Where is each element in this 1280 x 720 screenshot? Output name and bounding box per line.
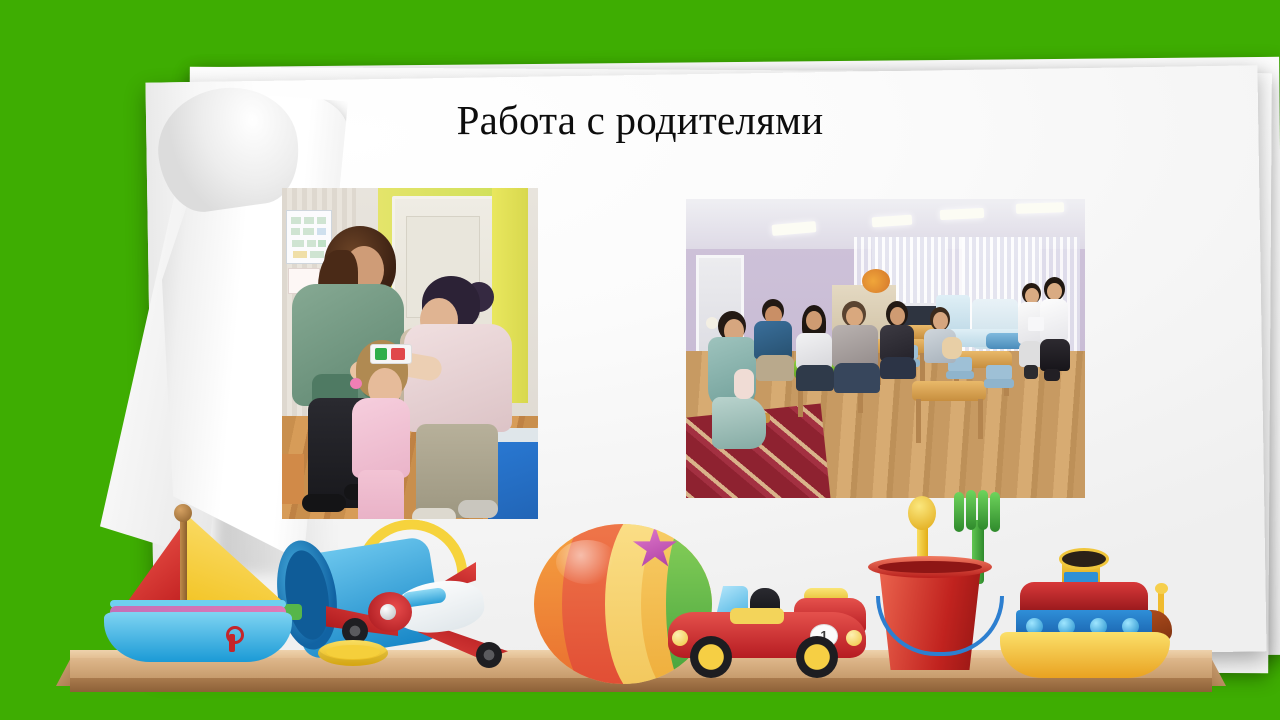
photo-right-parent	[752, 299, 796, 379]
sailboat-yellow-sail	[186, 514, 290, 612]
photo-right-chair	[984, 379, 1014, 388]
sand-bucket-rim	[868, 556, 992, 578]
photo-right-presenter	[1038, 277, 1072, 383]
race-car-taillight	[846, 630, 862, 646]
photo-right-parent-with-baby	[922, 307, 964, 369]
photo-right-chair	[946, 371, 974, 379]
photo-right-parent	[794, 305, 836, 389]
photo-right-flower-vase	[862, 269, 890, 293]
airplane-nose	[368, 592, 412, 632]
airplane-wheel	[476, 642, 502, 668]
steamboat-hull	[1000, 632, 1170, 678]
photo-parent-child-teacher	[282, 188, 538, 519]
race-car-headlight	[672, 630, 688, 646]
sailboat-red-sail	[128, 520, 186, 608]
toy-sailboat	[104, 508, 304, 664]
photo-right-parent	[832, 301, 882, 391]
photo-right-chair	[986, 365, 1012, 380]
photo-left-teacher	[402, 276, 532, 519]
toy-steamboat	[1000, 560, 1185, 685]
race-car-cockpit	[730, 608, 784, 624]
race-car-wheel	[690, 636, 732, 678]
photo-left-handheld-card	[370, 344, 412, 364]
sailboat-hull	[104, 612, 292, 662]
photo-right-ceiling-lamp	[1016, 202, 1064, 214]
sailboat-mast-knob	[174, 504, 192, 522]
photo-right-table	[912, 381, 986, 401]
photo-parent-meeting	[686, 199, 1085, 498]
toy-yellow-dish	[318, 640, 388, 666]
toy-race-car: 1	[668, 582, 878, 682]
photo-right-parent	[878, 301, 920, 377]
beach-ball-highlight	[556, 540, 618, 584]
anchor-icon	[222, 626, 242, 652]
race-car-wheel	[796, 636, 838, 678]
page-title: Работа с родителями	[0, 96, 1280, 144]
photo-left-child	[346, 340, 416, 519]
slide-canvas: Работа с родителями	[0, 0, 1280, 720]
